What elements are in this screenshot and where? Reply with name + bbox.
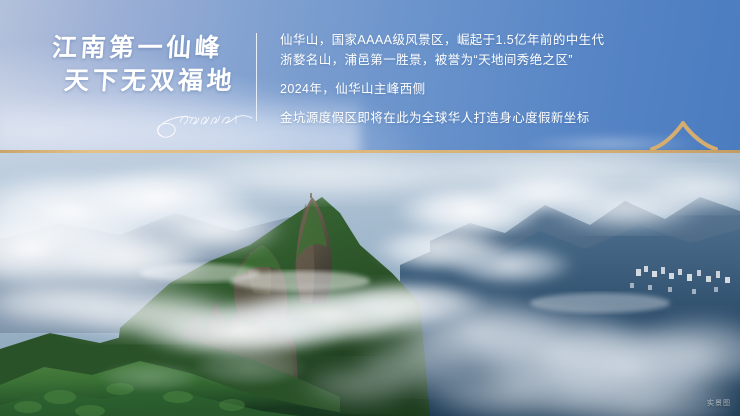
poster-description: 仙华山，国家AAAA级风景区，崛起于1.5亿年前的中生代 浙婺名山，浦邑第一胜景…: [280, 30, 720, 128]
roof-chevron-ornament: [650, 118, 718, 152]
body-line-1: 仙华山，国家AAAA级风景区，崛起于1.5亿年前的中生代: [280, 30, 720, 50]
mountain-photograph: 实景图: [0, 153, 740, 416]
poster-title: 江南第一仙峰 天下无双福地: [52, 32, 242, 98]
title-line-2: 天下无双福地: [63, 65, 243, 98]
promotional-poster: 江南第一仙峰 天下无双福地 仙华山，国家AAAA级风景区，崛起于1.5亿年前的中…: [0, 0, 740, 416]
photo-watermark: 实景图: [707, 398, 731, 408]
vertical-divider: [256, 33, 257, 121]
body-line-3: 2024年，仙华山主峰西侧: [280, 79, 720, 99]
golden-resort-signature: [152, 106, 262, 140]
body-line-2: 浙婺名山，浦邑第一胜景，被誉为“天地间秀绝之区”: [280, 50, 720, 70]
title-line-1: 江南第一仙峰: [51, 32, 243, 65]
